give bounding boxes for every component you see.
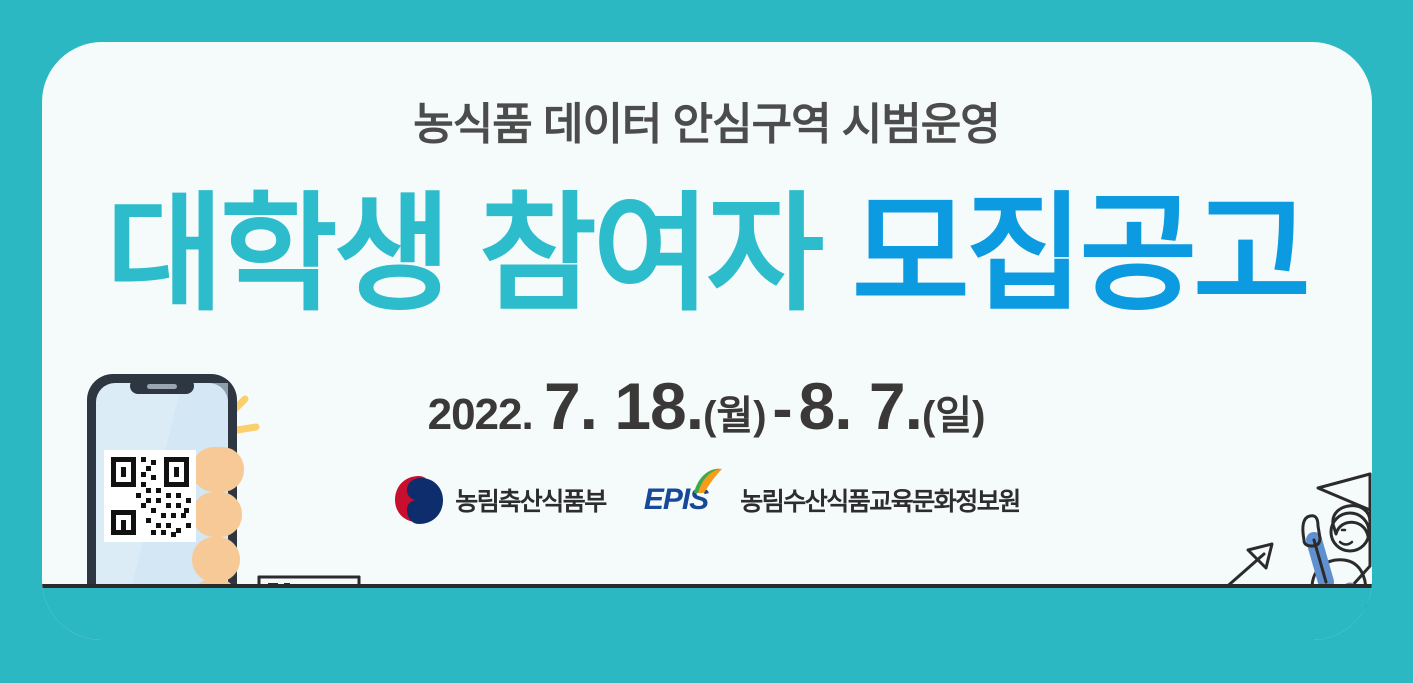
date-end-dow: (일) <box>922 394 985 438</box>
recruitment-period: 2022. 7. 18.(월)-8. 7.(일) <box>0 368 1413 444</box>
date-start-day: 18. <box>614 369 703 443</box>
epis-swoosh-icon <box>690 467 724 495</box>
page-title: 대학생 참여자 모집공고 <box>0 180 1413 330</box>
logo-mafra: 농림축산식품부 <box>393 474 606 526</box>
logo-row: 농림축산식품부 EPIS 농림수산식품교육문화정보원 <box>0 474 1413 526</box>
ground-band <box>42 588 1372 640</box>
date-end-month: 8. <box>799 369 852 443</box>
logo-epis-label: 농림수산식품교육문화정보원 <box>740 482 1020 518</box>
title-part-1: 대학생 참여자 <box>106 183 820 326</box>
logo-mafra-label: 농림축산식품부 <box>455 482 606 518</box>
date-end-day: 7. <box>869 369 922 443</box>
logo-epis: EPIS 농림수산식품교육문화정보원 <box>644 482 1020 518</box>
poster-subtitle: 농식품 데이터 안심구역 시범운영 <box>0 96 1413 154</box>
korea-government-taegeuk-icon <box>393 474 445 526</box>
poster-root: ✱✱✱✱ <box>0 0 1413 683</box>
date-year: 2022. <box>428 390 533 439</box>
date-start-dow: (월) <box>703 394 766 438</box>
date-dash: - <box>767 375 799 442</box>
date-start-month: 7. <box>544 369 597 443</box>
title-part-2: 모집공고 <box>852 183 1307 326</box>
